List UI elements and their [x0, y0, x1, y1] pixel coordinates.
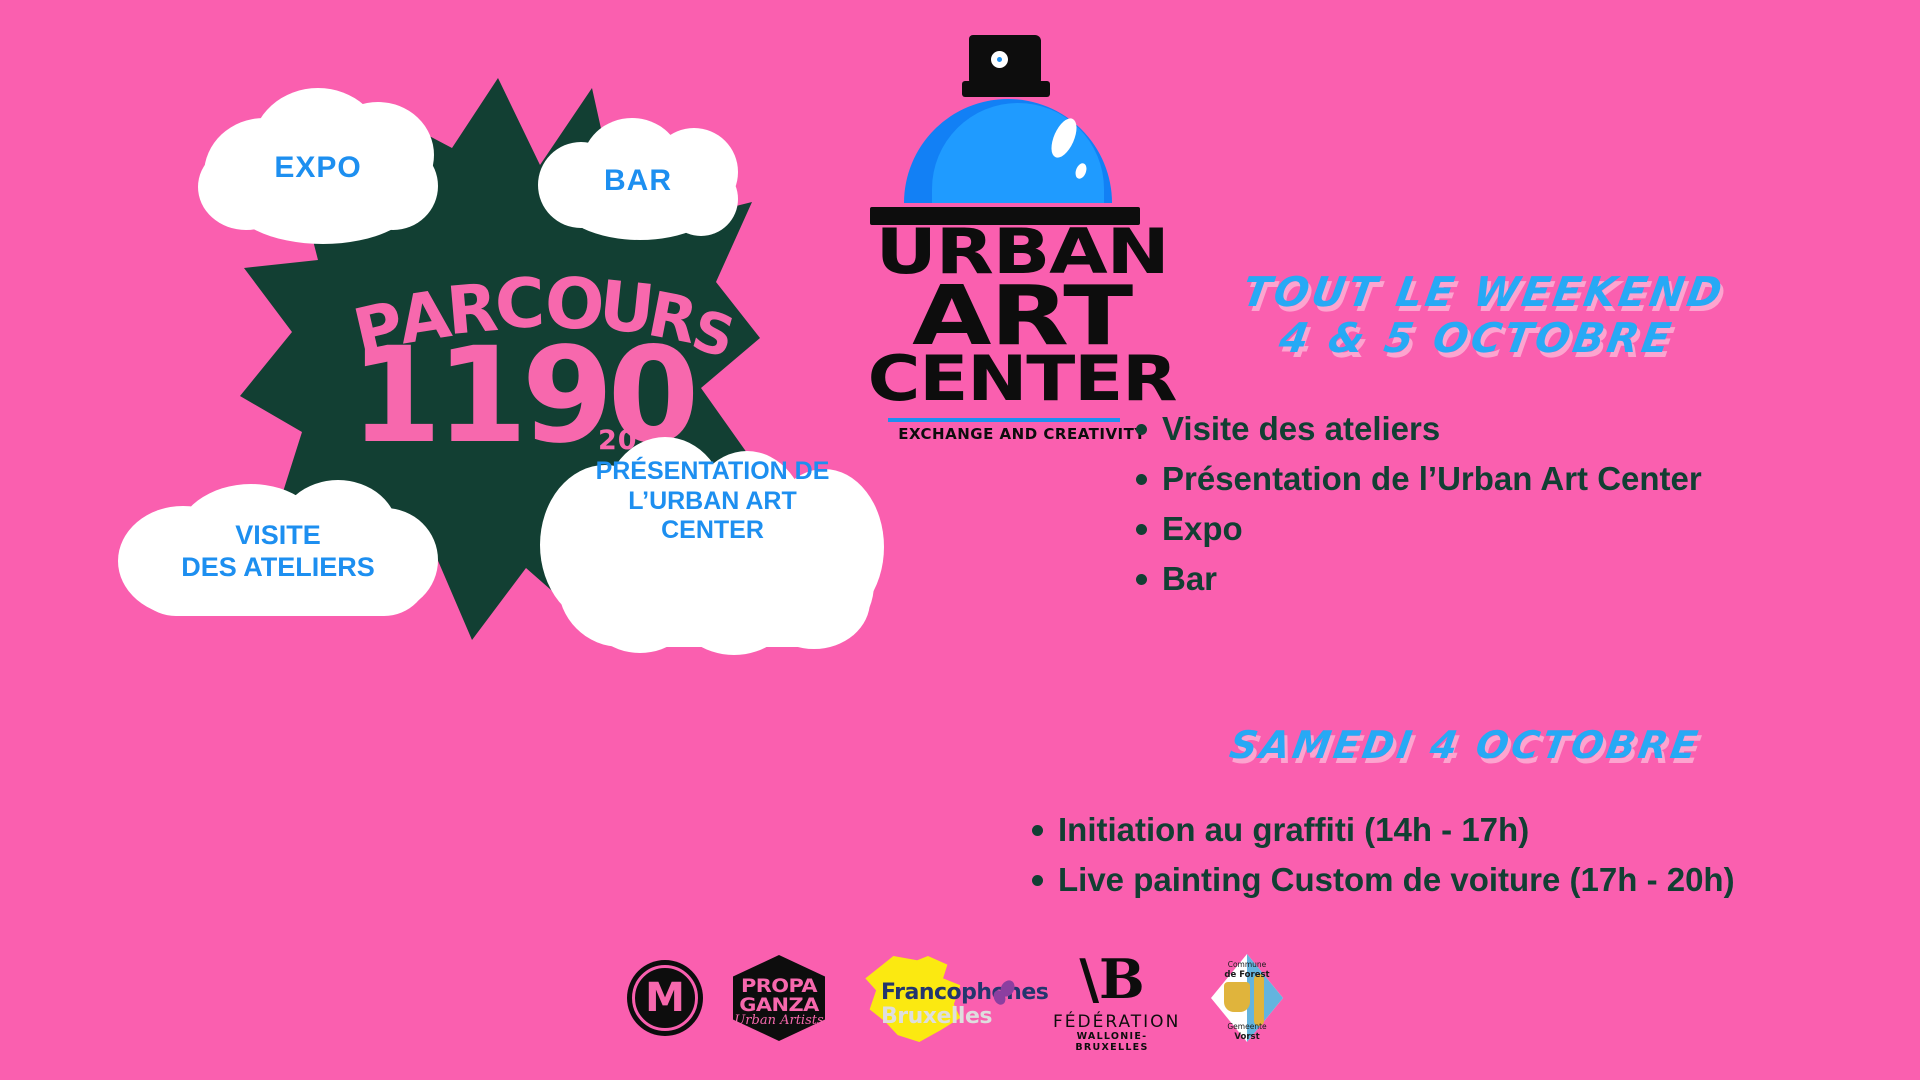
list-item: Visite des ateliers: [1122, 404, 1860, 454]
forest-label-fr-line2: de Forest: [1224, 970, 1269, 980]
forest-label-nl-line2: Vorst: [1234, 1032, 1259, 1042]
spray-can-neck-icon: [962, 81, 1050, 97]
weekend-program-list: Visite des ateliers Présentation de l’Ur…: [1122, 404, 1860, 605]
saturday-heading: SAMEDI 4 OCTOBRE: [1037, 724, 1864, 767]
parcours-brand-block: P A R C O U R S 1190 2025 EXPO: [70, 40, 830, 720]
cloud-label-bar: BAR: [538, 118, 738, 243]
fwb-monogram-icon: \B: [1053, 952, 1171, 1006]
forest-label-fr-line1: Commune: [1228, 960, 1267, 969]
list-item: Live painting Custom de voiture (17h - 2…: [1018, 855, 1860, 905]
forest-label-nl-line1: Gemeente: [1227, 1022, 1266, 1031]
list-item: Présentation de l’Urban Art Center: [1122, 454, 1860, 504]
event-poster: P A R C O U R S 1190 2025 EXPO: [0, 0, 1920, 1080]
cloud-label-presentation: PRÉSENTATION DE L’URBAN ART CENTER: [540, 435, 885, 655]
cloud-bubble-expo: EXPO: [198, 88, 438, 248]
forest-label-fr: Commune de Forest: [1201, 960, 1293, 981]
saturday-program-list: Initiation au graffiti (14h - 17h) Live …: [1018, 805, 1860, 905]
weekend-heading-line1: TOUT LE WEEKEND: [1100, 270, 1867, 316]
cloud-label-presentation-line1: PRÉSENTATION DE: [596, 457, 830, 487]
spray-can-nozzle-hole-icon: [991, 51, 1008, 68]
list-item: Initiation au graffiti (14h - 17h): [1018, 805, 1860, 855]
list-item: Bar: [1122, 554, 1860, 604]
francophones-line2: Bruxelles: [881, 1004, 992, 1029]
cloud-label-visite-line2: DES ATELIERS: [181, 552, 375, 584]
cloud-bubble-visite: VISITE DES ATELIERS: [118, 478, 438, 626]
weekend-heading-line2: 4 & 5 OCTOBRE: [1093, 316, 1860, 362]
propaganza-line3: Urban Artists: [733, 1013, 825, 1028]
fwb-line1: FÉDÉRATION: [1053, 1012, 1171, 1032]
francophones-line1: Francophones: [881, 980, 1048, 1005]
cloud-label-visite: VISITE DES ATELIERS: [118, 478, 438, 626]
cloud-bubble-bar: BAR: [538, 118, 738, 243]
cloud-bubble-presentation: PRÉSENTATION DE L’URBAN ART CENTER: [540, 435, 885, 655]
m-circle-glyph: M: [627, 960, 703, 1036]
section-spacer: [1040, 604, 1860, 724]
forest-label-nl: Gemeente Vorst: [1201, 1022, 1293, 1043]
cloud-label-presentation-line2: L’URBAN ART: [628, 487, 797, 517]
forest-crosier-icon: [1254, 974, 1264, 1026]
sponsor-logo-propaganza: PROPA GANZA Urban Artists: [733, 955, 825, 1041]
cloud-label-visite-line1: VISITE: [235, 520, 321, 552]
cloud-label-presentation-line3: CENTER: [661, 516, 764, 546]
list-item: Expo: [1122, 504, 1860, 554]
forest-crest-emblem-icon: [1224, 982, 1250, 1012]
weekend-heading: TOUT LE WEEKEND 4 & 5 OCTOBRE: [1033, 270, 1868, 362]
sponsor-logo-m-circle: M: [627, 960, 703, 1036]
sponsor-logo-commune-de-forest: Commune de Forest Gemeente Vorst: [1201, 950, 1293, 1046]
sponsor-logo-federation-wallonie-bruxelles: \B FÉDÉRATION WALLONIE-BRUXELLES: [1053, 952, 1171, 1044]
sponsor-logo-strip: M PROPA GANZA Urban Artists Francophones…: [0, 950, 1920, 1046]
fwb-line2: WALLONIE-BRUXELLES: [1053, 1031, 1171, 1053]
schedule-column: TOUT LE WEEKEND 4 & 5 OCTOBRE Visite des…: [1040, 270, 1860, 905]
cloud-label-expo: EXPO: [198, 88, 438, 248]
sponsor-logo-francophones-bruxelles: Francophones Bruxelles: [855, 952, 1023, 1044]
